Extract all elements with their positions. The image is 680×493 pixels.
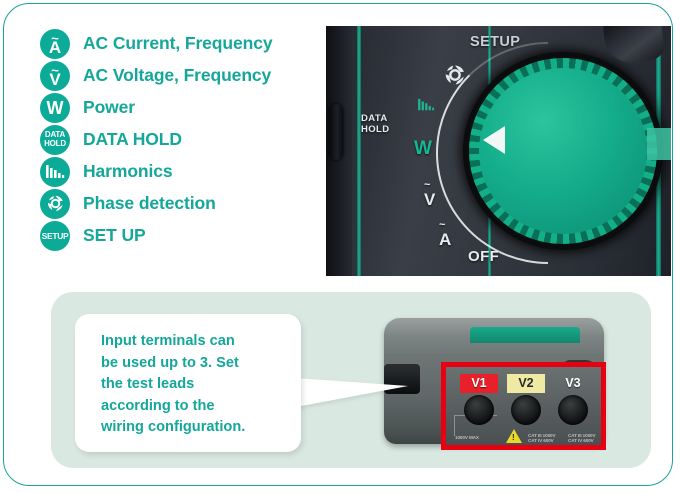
terminal-label-v1: V1 (460, 374, 498, 393)
letter-glyph: W (47, 99, 64, 117)
ac-voltage-icon: ~ V (40, 61, 70, 91)
legend-item-label: Harmonics (83, 161, 173, 182)
rotary-dial-photo: SETUP DA (326, 26, 671, 276)
legend-item-label: AC Voltage, Frequency (83, 65, 271, 86)
terminal-fine-print-left: 1000V MAX (455, 435, 479, 440)
dial-label-power: W (414, 138, 432, 160)
callout-text: Input terminals can be used up to 3. Set… (101, 331, 289, 439)
warning-triangle-icon (506, 429, 522, 443)
harmonics-bars-glyph (45, 164, 65, 180)
side-button (329, 104, 343, 160)
terminal-fine-print-right: CAT III 1000V CAT IV 600V (568, 433, 595, 443)
data-hold-icon: DATA HOLD (40, 125, 70, 155)
legend-item-ac-current: ~ A AC Current, Frequency (40, 28, 320, 59)
dial-voltage-letter: V (424, 190, 436, 209)
green-accent-stripe (357, 26, 361, 276)
dial-current-tilde: ~ (439, 221, 452, 229)
dial-harmonics-icon (414, 98, 438, 117)
legend-item-setup: SETUP SET UP (40, 220, 320, 251)
dial-voltage-tilde: ~ (424, 181, 436, 189)
knob-pointer-icon (483, 126, 505, 154)
legend-item-ac-voltage: ~ V AC Voltage, Frequency (40, 60, 320, 91)
housing-green-top (470, 327, 580, 343)
terminal-plate: V1 V2 V3 1000V MAX CAT III 1000V CAT IV … (446, 367, 601, 445)
power-icon: W (40, 93, 70, 123)
knob-grip-tab (647, 128, 671, 160)
legend-item-power: W Power (40, 92, 320, 123)
legend-item-label: Phase detection (83, 193, 216, 214)
terminal-fine-print-middle: CAT III 1000V CAT IV 600V (528, 433, 555, 443)
dial-current-letter: A (439, 230, 452, 249)
harmonics-icon (40, 157, 70, 187)
legend-item-phase-detection: Phase detection (40, 188, 320, 219)
terminal-label-v3: V3 (554, 374, 592, 393)
setup-glyph: SETUP (42, 231, 69, 241)
dial-label-off: OFF (468, 248, 499, 265)
dial-phase-detection-icon (442, 62, 468, 93)
legend-item-label: Power (83, 97, 135, 118)
phase-detection-icon (40, 189, 70, 219)
letter-glyph: V (40, 71, 70, 88)
setup-icon: SETUP (40, 221, 70, 251)
callout-bubble: Input terminals can be used up to 3. Set… (75, 314, 301, 452)
dial-data-hold-line1: DATA (361, 114, 390, 125)
dial-label-current: ~ A (439, 221, 452, 250)
terminal-jack-v3[interactable] (558, 395, 588, 425)
legend-item-harmonics: Harmonics (40, 156, 320, 187)
legend-item-label: AC Current, Frequency (83, 33, 272, 54)
data-hold-line2: HOLD (44, 140, 66, 149)
legend-item-data-hold: DATA HOLD DATA HOLD (40, 124, 320, 155)
data-hold-glyph: DATA HOLD (44, 131, 66, 148)
rotation-arrows-glyph (45, 193, 66, 214)
rounded-frame: ~ A AC Current, Frequency ~ V AC Voltage… (3, 3, 673, 486)
terminal-jack-v1[interactable] (464, 395, 494, 425)
highlight-rectangle: V1 V2 V3 1000V MAX CAT III 1000V CAT IV … (441, 362, 606, 450)
dial-label-voltage: ~ V (424, 181, 436, 210)
page-root: ~ A AC Current, Frequency ~ V AC Voltage… (0, 0, 680, 493)
rotary-selector-knob[interactable] (463, 52, 663, 250)
terminal-label-v2: V2 (507, 374, 545, 393)
ac-current-icon: ~ A (40, 29, 70, 59)
legend-list: ~ A AC Current, Frequency ~ V AC Voltage… (40, 28, 320, 252)
legend-item-label: DATA HOLD (83, 129, 182, 150)
terminal-jack-v2[interactable] (511, 395, 541, 425)
legend-item-label: SET UP (83, 225, 146, 246)
dial-data-hold-line2: HOLD (361, 125, 390, 136)
letter-glyph: A (40, 39, 70, 56)
dial-label-data-hold: DATA HOLD (361, 114, 390, 135)
callout-pointer (296, 378, 408, 407)
dial-label-setup: SETUP (470, 34, 520, 50)
meter-housing: V1 V2 V3 1000V MAX CAT III 1000V CAT IV … (384, 318, 604, 444)
